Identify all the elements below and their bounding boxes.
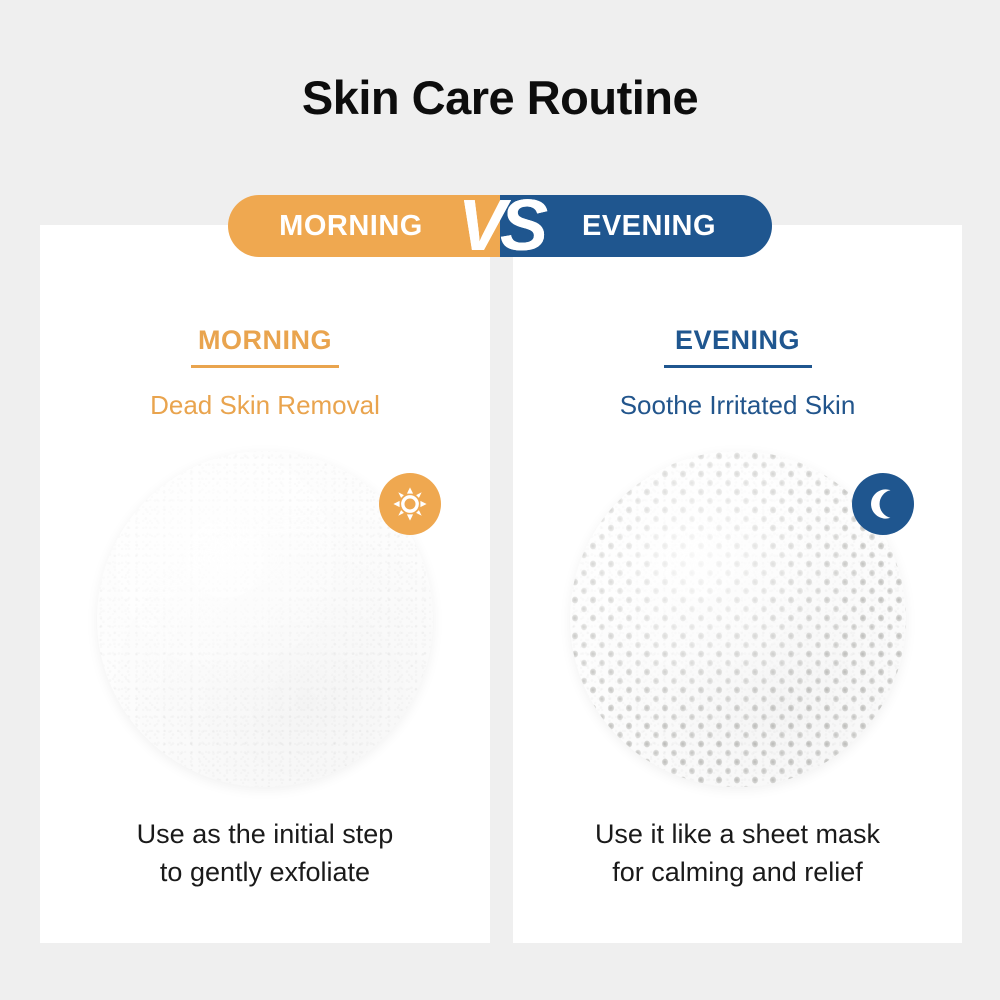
panel-morning-caption-line-2: to gently exfoliate bbox=[40, 853, 490, 891]
panel-morning-caption: Use as the initial step to gently exfoli… bbox=[40, 815, 490, 892]
vs-mark: VS bbox=[458, 190, 542, 262]
panel-evening: EVENING Soothe Irritated Skin Use it lik… bbox=[513, 225, 962, 943]
panel-morning-heading: MORNING bbox=[40, 325, 490, 368]
panel-evening-caption-line-1: Use it like a sheet mask bbox=[513, 815, 962, 853]
panel-morning-heading-text: MORNING bbox=[198, 325, 332, 355]
panel-evening-heading: EVENING bbox=[513, 325, 962, 368]
panel-evening-heading-text: EVENING bbox=[675, 325, 800, 355]
page-title: Skin Care Routine bbox=[0, 70, 1000, 125]
panel-morning-heading-rule bbox=[191, 365, 339, 368]
moon-icon bbox=[852, 473, 914, 535]
panel-evening-caption-line-2: for calming and relief bbox=[513, 853, 962, 891]
panel-morning-caption-line-1: Use as the initial step bbox=[40, 815, 490, 853]
panel-morning-photo bbox=[97, 451, 433, 787]
panel-morning: MORNING Dead Skin Removal Use as the ini… bbox=[40, 225, 490, 943]
sun-icon bbox=[379, 473, 441, 535]
panel-evening-photo bbox=[570, 451, 906, 787]
badge-morning-label: MORNING bbox=[279, 210, 423, 243]
panel-evening-caption: Use it like a sheet mask for calming and… bbox=[513, 815, 962, 892]
panel-evening-heading-rule bbox=[664, 365, 812, 368]
badge-evening-label: EVENING bbox=[582, 210, 716, 243]
panel-morning-subtitle: Dead Skin Removal bbox=[40, 390, 490, 421]
morning-vs-evening-badge: MORNING EVENING VS bbox=[228, 195, 772, 257]
panel-evening-subtitle: Soothe Irritated Skin bbox=[513, 390, 962, 421]
